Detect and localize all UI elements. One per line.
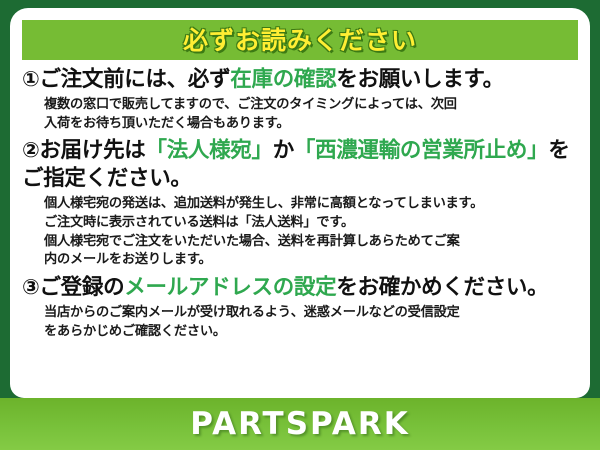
section-body-line: ご注文時に表示されている送料は「法人送料」です。 <box>44 214 580 233</box>
notice-section: ①ご注文前には、必ず在庫の確認をお願いします。複数の窓口で販売してますので、ご注… <box>22 66 580 133</box>
heading-text: か <box>273 138 294 163</box>
section-body-line: 当店からのご案内メールが受け取れるよう、迷惑メールなどの受信設定 <box>44 304 580 323</box>
notice-footer-band: PARTSPARK <box>0 398 600 450</box>
section-heading: ①ご注文前には、必ず在庫の確認をお願いします。 <box>22 66 580 94</box>
notice-section: ②お届け先は「法人様宛」か「西濃運輸の営業所止め」をご指定ください。個人様宅宛の… <box>22 137 580 270</box>
heading-text: ご登録の <box>39 275 124 300</box>
section-body-line: 内のメールをお送りします。 <box>44 251 580 270</box>
notice-section: ③ご登録のメールアドレスの設定をお確かめください。当店からのご案内メールが受け取… <box>22 274 580 341</box>
heading-highlight: 「法人様宛」 <box>146 138 273 163</box>
brand-logo-text: PARTSPARK <box>190 409 410 440</box>
heading-text: ご注文前には、必ず <box>39 67 230 92</box>
section-body-line: をあらかじめご確認ください。 <box>44 323 580 342</box>
section-number: ② <box>22 138 39 162</box>
section-number: ③ <box>22 275 39 299</box>
section-heading: ③ご登録のメールアドレスの設定をお確かめください。 <box>22 274 580 302</box>
notice-sections: ①ご注文前には、必ず在庫の確認をお願いします。複数の窓口で販売してますので、ご注… <box>10 66 590 346</box>
section-body-line: 個人様宅宛の発送は、追加送料が発生し、非常に高額となってしまいます。 <box>44 195 580 214</box>
heading-highlight: メールアドレスの設定 <box>124 275 336 300</box>
section-body: 個人様宅宛の発送は、追加送料が発生し、非常に高額となってしまいます。ご注文時に表… <box>22 195 580 270</box>
section-body-line: 個人様宅宛でご注文をいただいた場合、送料を再計算しあらためてご案 <box>44 233 580 252</box>
section-body-line: 複数の窓口で販売してますので、ご注文のタイミングによっては、次回 <box>44 96 580 115</box>
section-heading: ②お届け先は「法人様宛」か「西濃運輸の営業所止め」をご指定ください。 <box>22 137 580 193</box>
notice-title: 必ずお読みください <box>183 28 417 53</box>
section-body-line: 入荷をお待ち頂いただく場合もあります。 <box>44 115 580 134</box>
notice-banner: 必ずお読みください ①ご注文前には、必ず在庫の確認をお願いします。複数の窓口で販… <box>0 0 600 450</box>
section-body: 当店からのご案内メールが受け取れるよう、迷惑メールなどの受信設定をあらかじめご確… <box>22 304 580 341</box>
heading-highlight: 「西濃運輸の営業所止め」 <box>294 138 548 163</box>
notice-panel: 必ずお読みください ①ご注文前には、必ず在庫の確認をお願いします。複数の窓口で販… <box>10 8 590 398</box>
section-number: ① <box>22 67 39 91</box>
heading-text: をお願いします。 <box>336 67 503 92</box>
heading-text: をお確かめください。 <box>336 275 548 300</box>
notice-header-band: 必ずお読みください <box>22 20 578 60</box>
heading-text: お届け先は <box>39 138 145 163</box>
section-body: 複数の窓口で販売してますので、ご注文のタイミングによっては、次回入荷をお待ち頂い… <box>22 96 580 133</box>
heading-highlight: 在庫の確認 <box>230 67 336 92</box>
